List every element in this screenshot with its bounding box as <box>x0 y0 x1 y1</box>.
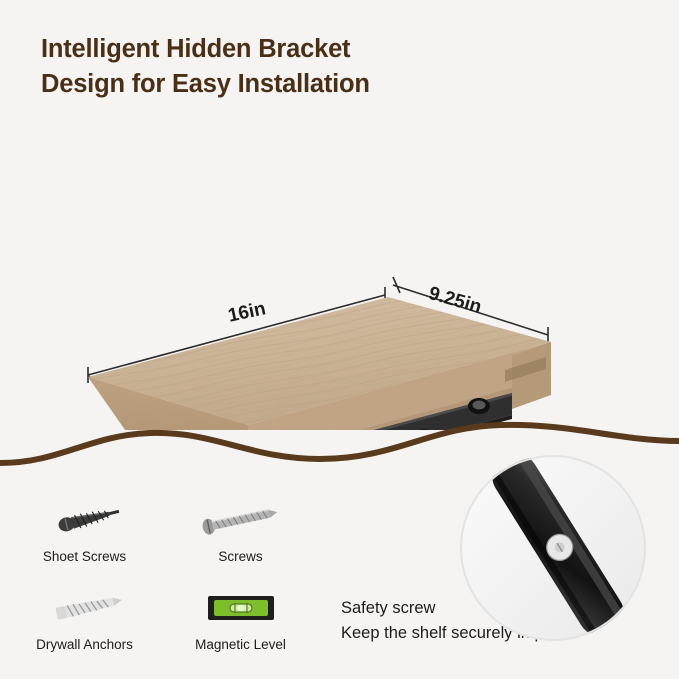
accessory-label: Shoet Screws <box>22 549 147 564</box>
accessory-shoet-screws: Shoet Screws <box>22 500 147 564</box>
bracket-closeup-photo <box>460 455 646 641</box>
accessory-label: Magnetic Level <box>178 637 303 652</box>
accessory-magnetic-level: Magnetic Level <box>178 588 303 652</box>
accessory-label: Drywall Anchors <box>22 637 147 652</box>
machine-screw-icon <box>178 500 303 540</box>
accessory-label: Screws <box>178 549 303 564</box>
wood-screw-icon <box>22 500 147 540</box>
magnetic-level-icon <box>178 588 303 628</box>
accessory-screws: Screws <box>178 500 303 564</box>
accessory-drywall-anchors: Drywall Anchors <box>22 588 147 652</box>
drywall-anchor-icon <box>22 588 147 628</box>
safety-line-1: Safety screw <box>341 599 435 617</box>
product-infographic: Intelligent Hidden Bracket Design for Ea… <box>0 0 679 679</box>
headline-line-2: Design for Easy Installation <box>41 67 370 102</box>
shelf-graphic <box>0 130 679 430</box>
page-title: Intelligent Hidden Bracket Design for Ea… <box>41 32 370 102</box>
headline-line-1: Intelligent Hidden Bracket <box>41 35 350 63</box>
shelf-illustration: 16in 9.25in <box>0 130 679 430</box>
bracket-closeup-graphic <box>460 455 646 641</box>
